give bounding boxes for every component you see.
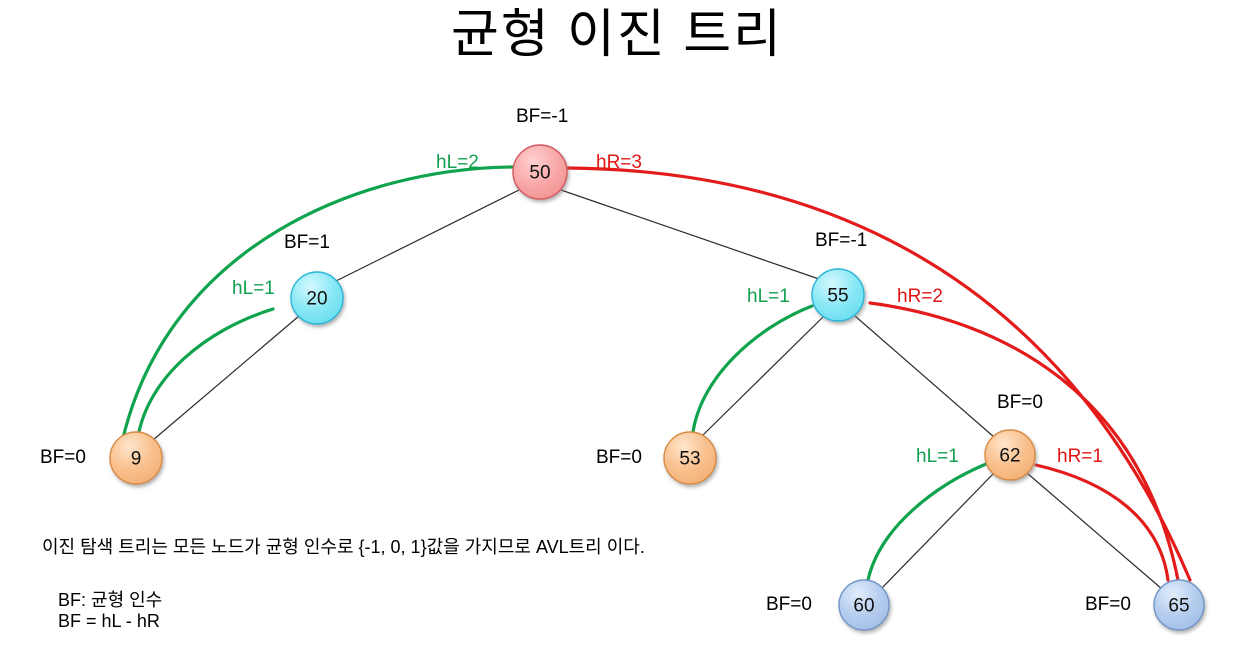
legend-line-bf-meaning: BF: 균형 인수 — [58, 586, 162, 612]
tree-node-62[interactable]: 62 — [985, 430, 1035, 480]
bf-label-65: BF=0 — [1085, 594, 1131, 616]
bf-label-53: BF=0 — [596, 447, 642, 469]
arc-hR-62-to-65 — [1036, 465, 1168, 580]
arc-hL-20-to-9-label: hL=1 — [232, 278, 275, 300]
arc-hL-55-to-53-label: hL=1 — [747, 286, 790, 308]
arc-hL-62-to-60-label: hL=1 — [916, 446, 959, 468]
arc-hL-62-to-60 — [868, 464, 986, 580]
node-value-53: 53 — [679, 449, 700, 470]
arc-hL-50-to-9-label: hL=2 — [436, 152, 479, 174]
arc-hR-55-to-65-label: hR=2 — [897, 286, 943, 308]
tree-node-53[interactable]: 53 — [664, 432, 716, 484]
tree-graph: 502095553626065 — [0, 0, 1234, 659]
tree-node-55[interactable]: 55 — [812, 269, 864, 321]
tree-node-65[interactable]: 65 — [1154, 580, 1204, 630]
bf-label-60: BF=0 — [766, 594, 812, 616]
node-value-9: 9 — [131, 449, 142, 470]
bf-label-20: BF=1 — [284, 232, 330, 254]
edge-62-65 — [1027, 473, 1162, 589]
bf-label-55: BF=-1 — [815, 230, 867, 252]
arc-hR-62-to-65-label: hR=1 — [1057, 446, 1103, 468]
node-value-65: 65 — [1168, 596, 1189, 617]
node-value-62: 62 — [999, 446, 1020, 467]
tree-node-9[interactable]: 9 — [110, 432, 162, 484]
legend-line-bf-formula: BF = hL - hR — [58, 611, 160, 632]
height-arcs-group — [123, 167, 1190, 580]
arc-hR-50-to-65-label: hR=3 — [596, 152, 642, 174]
node-value-50: 50 — [529, 163, 550, 184]
arc-hR-50-to-65 — [568, 168, 1190, 580]
tree-node-60[interactable]: 60 — [839, 580, 889, 630]
diagram-canvas: 균형 이진 트리 — [0, 0, 1234, 659]
tree-node-20[interactable]: 20 — [291, 272, 343, 324]
node-value-60: 60 — [853, 596, 874, 617]
bf-label-9: BF=0 — [40, 447, 86, 469]
edge-55-62 — [855, 316, 994, 437]
edge-50-20 — [336, 190, 519, 281]
bf-label-62: BF=0 — [997, 392, 1043, 414]
edge-55-53 — [703, 317, 823, 435]
node-value-20: 20 — [306, 289, 327, 310]
bf-label-50: BF=-1 — [516, 106, 568, 128]
tree-node-50[interactable]: 50 — [513, 145, 567, 199]
node-value-55: 55 — [827, 286, 848, 307]
arc-hL-20-to-9 — [138, 309, 273, 437]
edge-20-9 — [153, 316, 299, 440]
edge-50-55 — [561, 190, 819, 279]
arc-hL-55-to-53 — [693, 306, 812, 432]
explanation-caption: 이진 탐색 트리는 모든 노드가 균형 인수로 {-1, 0, 1}값을 가지므… — [42, 533, 645, 559]
